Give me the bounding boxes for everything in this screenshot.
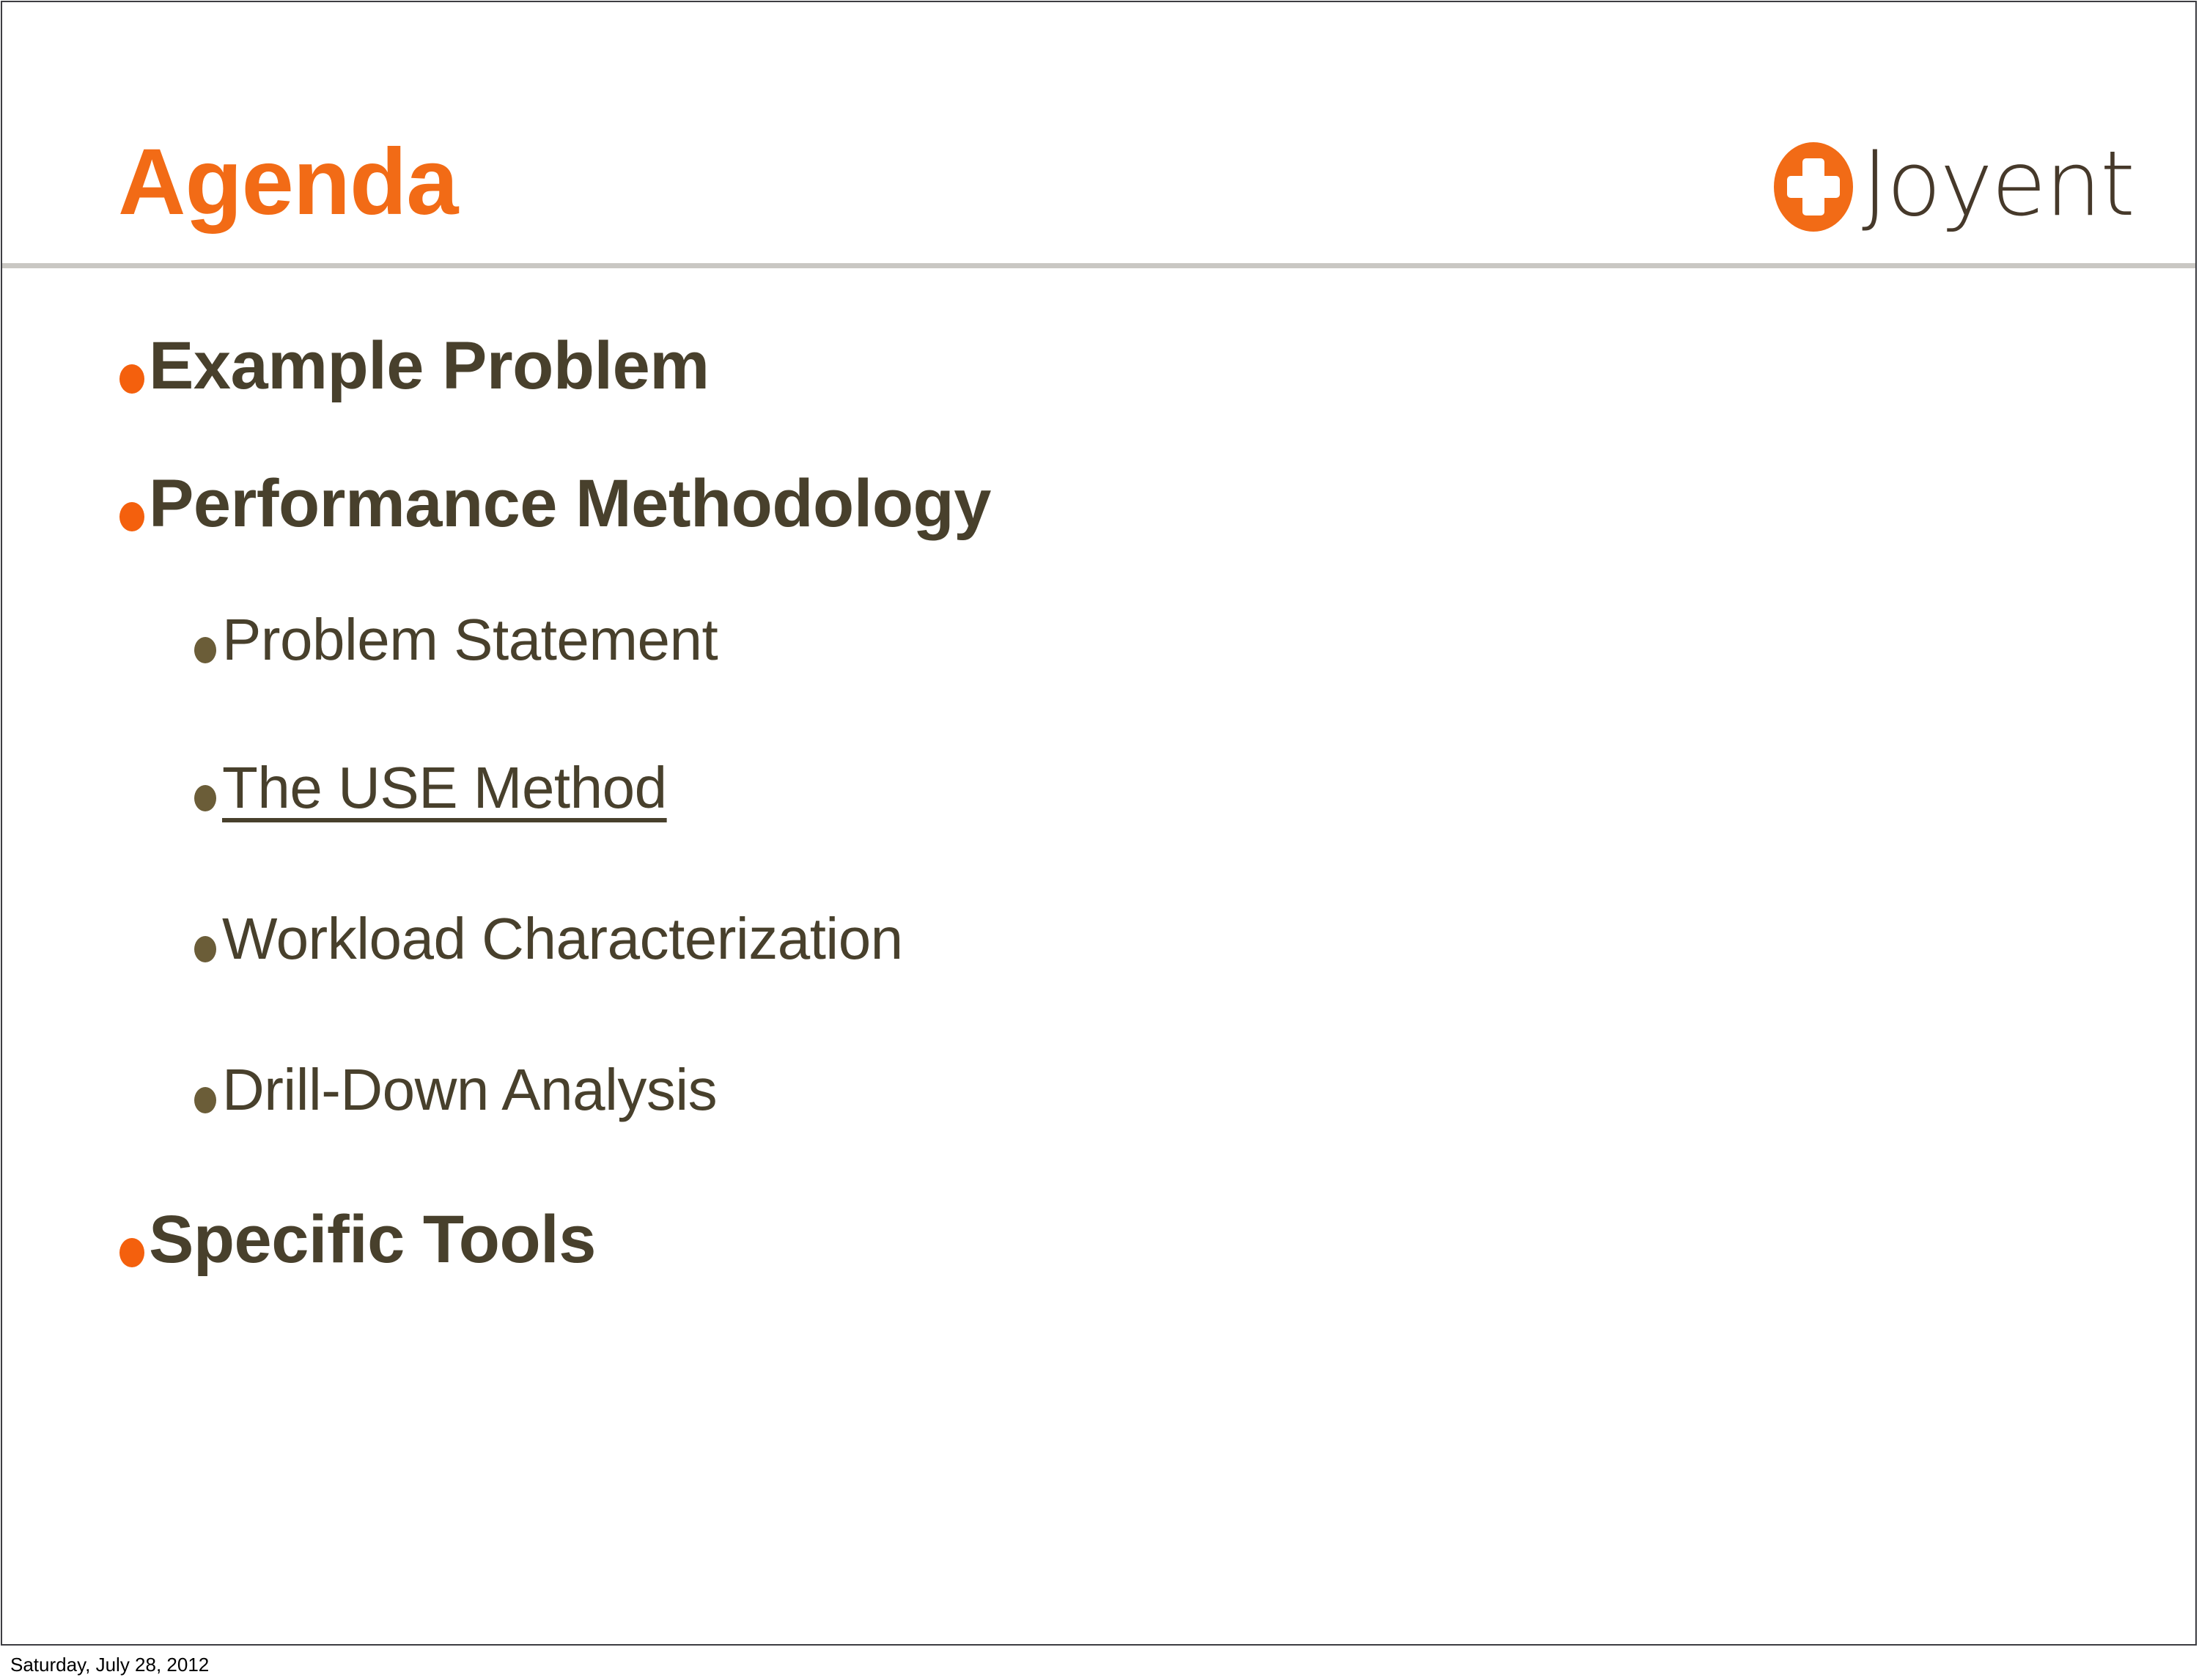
- list-item-label: Specific Tools: [149, 1206, 596, 1273]
- list-item: Example Problem: [119, 332, 710, 399]
- bullet-dot-icon: [194, 936, 216, 962]
- list-item-label: Drill-Down Analysis: [222, 1061, 717, 1119]
- slide-header: Agenda Joyent: [2, 2, 2195, 265]
- bullet-dot-icon: [194, 637, 216, 663]
- list-item: Performance Methodology: [119, 470, 991, 537]
- list-item-label-link[interactable]: The USE Method: [222, 759, 667, 817]
- list-item: The USE Method: [194, 759, 667, 817]
- bullet-dot-icon: [194, 785, 216, 811]
- joyent-logo: Joyent: [1774, 139, 2134, 235]
- list-item-label: Example Problem: [149, 332, 710, 399]
- list-item-label: Workload Characterization: [222, 910, 903, 968]
- list-item: Problem Statement: [194, 611, 718, 669]
- list-item: Workload Characterization: [194, 910, 903, 968]
- logo-wordmark: Joyent: [1862, 139, 2134, 229]
- page-title: Agenda: [118, 136, 457, 229]
- bullet-dot-icon: [119, 364, 144, 394]
- list-item-label: Performance Methodology: [149, 470, 991, 537]
- bullet-dot-icon: [194, 1087, 216, 1113]
- bullet-dot-icon: [119, 502, 144, 531]
- header-divider: [2, 263, 2195, 268]
- list-item: Specific Tools: [119, 1206, 596, 1273]
- list-item-label: Problem Statement: [222, 611, 718, 669]
- plus-cross-icon: [1774, 142, 1853, 232]
- bullet-dot-icon: [119, 1238, 144, 1267]
- logo-cross-horizontal: [1787, 176, 1840, 198]
- slide-canvas: Agenda Joyent Example Problem Performanc…: [1, 1, 2197, 1646]
- footer-date: Saturday, July 28, 2012: [10, 1654, 209, 1676]
- list-item: Drill-Down Analysis: [194, 1061, 717, 1119]
